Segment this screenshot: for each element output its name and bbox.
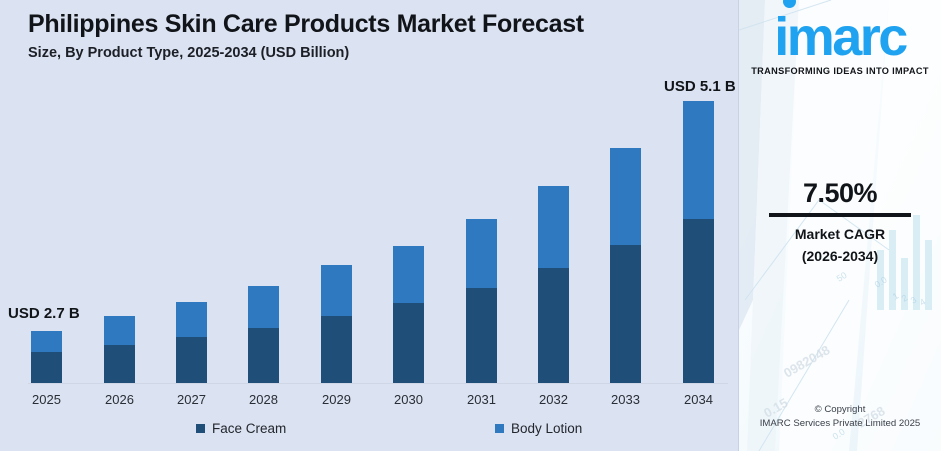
- bar-2030: [393, 246, 424, 383]
- bar-segment-body-lotion: [176, 302, 207, 337]
- bar-segment-body-lotion: [248, 286, 279, 328]
- x-axis-tick-2025: 2025: [17, 392, 77, 407]
- cagr-label: Market CAGR: [739, 226, 941, 242]
- copyright-line-2: IMARC Services Private Limited 2025: [739, 417, 941, 431]
- legend-swatch-icon: [495, 424, 504, 433]
- brand-content: imarc TRANSFORMING IDEAS INTO IMPACT 7.5…: [739, 0, 941, 451]
- bar-2025: [31, 331, 62, 383]
- callout-start-value: USD 2.7 B: [8, 305, 80, 322]
- bar-2031: [466, 219, 497, 383]
- logo-text: imarc: [774, 7, 906, 67]
- bar-2029: [321, 265, 352, 383]
- cagr-divider: [769, 213, 911, 217]
- bar-2028: [248, 286, 279, 383]
- cagr-range: (2026-2034): [739, 248, 941, 264]
- bar-segment-face-cream: [610, 245, 641, 383]
- legend-label: Body Lotion: [511, 421, 582, 436]
- bar-segment-face-cream: [104, 345, 135, 383]
- brand-panel: 0.0 1 2 3 4 50 0.0 0982048 2768 0.15 ima…: [739, 0, 941, 451]
- bar-2033: [610, 148, 641, 383]
- stacked-bar-chart: 2025202620272028202920302031203220332034: [0, 0, 739, 451]
- bar-segment-body-lotion: [31, 331, 62, 352]
- x-axis-tick-2026: 2026: [90, 392, 150, 407]
- bar-2026: [104, 316, 135, 383]
- legend-swatch-icon: [196, 424, 205, 433]
- x-axis-tick-2033: 2033: [596, 392, 656, 407]
- cagr-value: 7.50%: [739, 178, 941, 209]
- bar-segment-body-lotion: [610, 148, 641, 245]
- bar-2034: [683, 101, 714, 383]
- bar-segment-body-lotion: [466, 219, 497, 288]
- bar-segment-face-cream: [248, 328, 279, 383]
- x-axis-tick-2032: 2032: [524, 392, 584, 407]
- x-axis-tick-2028: 2028: [234, 392, 294, 407]
- legend-label: Face Cream: [212, 421, 286, 436]
- screenshot-root: Philippines Skin Care Products Market Fo…: [0, 0, 941, 451]
- bar-2032: [538, 186, 569, 383]
- x-axis-tick-2030: 2030: [379, 392, 439, 407]
- bar-segment-body-lotion: [321, 265, 352, 316]
- bar-segment-body-lotion: [393, 246, 424, 303]
- x-axis-tick-2029: 2029: [307, 392, 367, 407]
- legend-item-face-cream: Face Cream: [196, 421, 286, 436]
- chart-panel: Philippines Skin Care Products Market Fo…: [0, 0, 739, 451]
- bar-segment-body-lotion: [683, 101, 714, 219]
- bar-segment-body-lotion: [538, 186, 569, 268]
- bar-segment-face-cream: [176, 337, 207, 383]
- x-axis-tick-2034: 2034: [669, 392, 729, 407]
- callout-end-value: USD 5.1 B: [664, 78, 736, 95]
- bar-2027: [176, 302, 207, 383]
- bar-segment-face-cream: [393, 303, 424, 383]
- bar-segment-face-cream: [538, 268, 569, 383]
- logo-wordmark: imarc: [774, 10, 906, 64]
- copyright-line-1: © Copyright: [739, 403, 941, 417]
- x-axis-tick-2031: 2031: [452, 392, 512, 407]
- bar-segment-body-lotion: [104, 316, 135, 345]
- bar-segment-face-cream: [31, 352, 62, 383]
- bar-segment-face-cream: [683, 219, 714, 383]
- bar-segment-face-cream: [466, 288, 497, 383]
- copyright-notice: © Copyright IMARC Services Private Limit…: [739, 403, 941, 431]
- logo-tagline: TRANSFORMING IDEAS INTO IMPACT: [739, 66, 941, 76]
- x-axis-tick-2027: 2027: [162, 392, 222, 407]
- bar-segment-face-cream: [321, 316, 352, 383]
- legend-item-body-lotion: Body Lotion: [495, 421, 582, 436]
- x-axis-line: [28, 383, 728, 384]
- imarc-logo: imarc TRANSFORMING IDEAS INTO IMPACT: [739, 10, 941, 76]
- chart-legend: Face Cream Body Lotion: [0, 421, 739, 443]
